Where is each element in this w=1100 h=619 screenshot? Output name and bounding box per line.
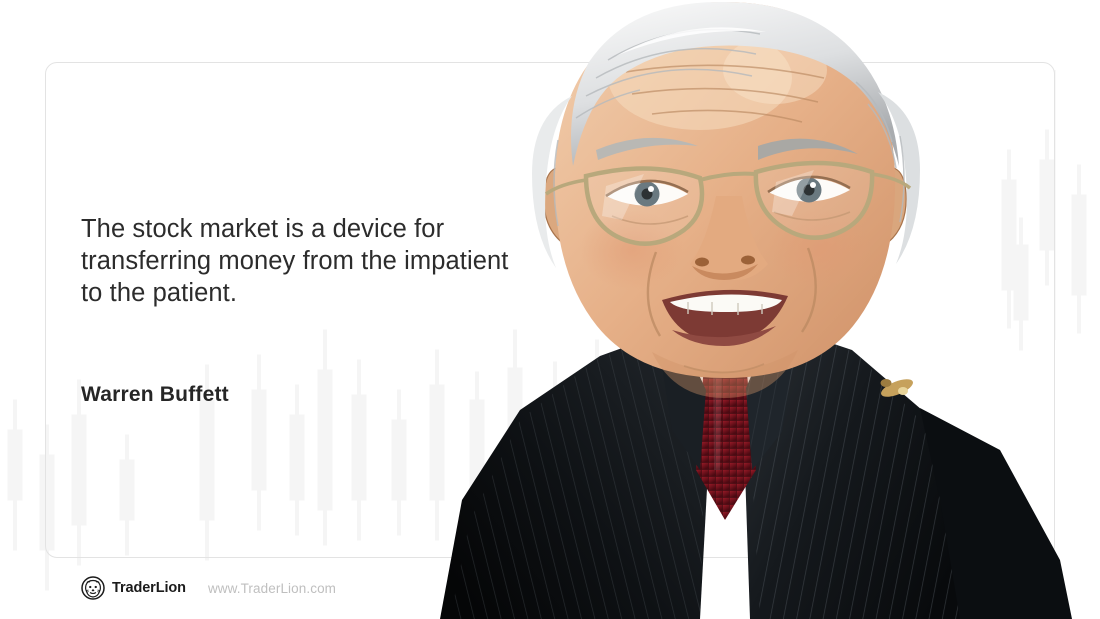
quote-block: The stock market is a device for transfe… bbox=[81, 213, 581, 309]
lion-head-icon bbox=[81, 576, 105, 600]
quote-card bbox=[45, 62, 1055, 558]
footer: TraderLion www.TraderLion.com bbox=[81, 576, 336, 600]
candle bbox=[8, 400, 22, 550]
quote-text: The stock market is a device for transfe… bbox=[81, 213, 581, 309]
quote-author: Warren Buffett bbox=[81, 383, 229, 407]
brand-lockup[interactable]: TraderLion bbox=[81, 576, 186, 600]
candle bbox=[1072, 165, 1086, 333]
brand-name: TraderLion bbox=[112, 580, 186, 596]
site-url[interactable]: www.TraderLion.com bbox=[208, 581, 336, 596]
